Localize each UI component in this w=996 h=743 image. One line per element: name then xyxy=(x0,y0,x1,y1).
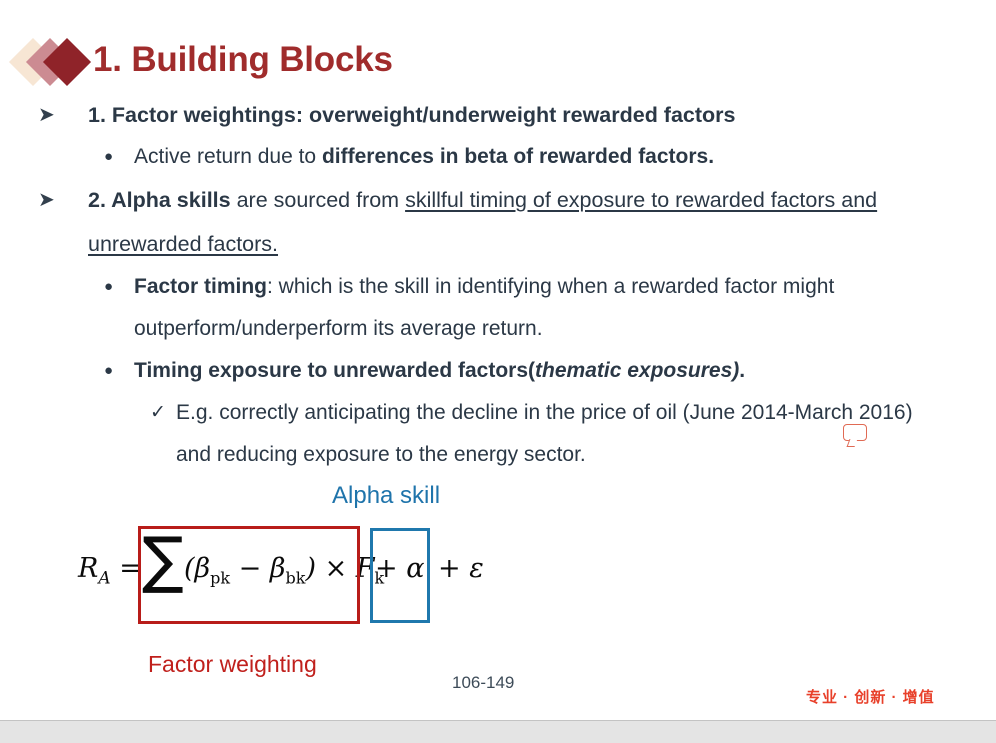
bullet-item-2-sub-1-lead: Factor timing xyxy=(134,275,267,298)
page-reference: 106-149 xyxy=(452,673,514,693)
dot-bullet-icon: ● xyxy=(104,266,113,308)
arrow-bullet-icon: ➤ xyxy=(38,94,55,136)
bullet-item-2-sub-2-tail: . xyxy=(739,359,745,382)
formula-epsilon-term: + ε xyxy=(438,553,484,584)
bullet-item-2-sub-2-lead: Timing exposure to unrewarded factors( xyxy=(134,359,535,382)
bullet-item-2-lead: 2. Alpha skills xyxy=(88,188,231,212)
brand-slogan: 专业 · 创新 · 增值 xyxy=(806,686,935,707)
slide-header: 1. Building Blocks xyxy=(0,18,996,84)
bullet-item-1-sub-lead: Active return due to xyxy=(134,145,322,168)
bullet-item-2-mid: are sourced from xyxy=(231,188,405,212)
bullet-item-2-sub-2: ● Timing exposure to unrewarded factors(… xyxy=(0,350,996,392)
factor-weighting-callout-label: Factor weighting xyxy=(148,651,317,678)
formula-lhs: RA = xyxy=(78,553,142,588)
bullet-item-2: ➤ 2. Alpha skills are sourced from skill… xyxy=(0,178,996,266)
comment-bubble-icon[interactable] xyxy=(843,424,869,444)
bullet-item-1-text: 1. Factor weightings: overweight/underwe… xyxy=(88,103,736,127)
alpha-skill-callout-label: Alpha skill xyxy=(332,482,440,510)
bullet-item-2-sub-1: ● Factor timing: which is the skill in i… xyxy=(0,266,996,350)
check-bullet-icon: ✓ xyxy=(150,392,166,434)
bottom-chrome-strip xyxy=(0,720,996,743)
bullet-item-1-sub: ● Active return due to differences in be… xyxy=(0,136,996,178)
formula-alpha-term: + α xyxy=(375,553,424,584)
summation-symbol: ∑ xyxy=(142,529,184,591)
slide-body: ➤ 1. Factor weightings: overweight/under… xyxy=(0,94,996,476)
example-text: E.g. correctly anticipating the decline … xyxy=(176,401,913,466)
slide-canvas: 1. Building Blocks ➤ 1. Factor weighting… xyxy=(0,0,996,720)
formula-beta-term: (βpk − βbk) × Fk xyxy=(184,553,384,587)
dot-bullet-icon: ● xyxy=(104,136,113,178)
page-title: 1. Building Blocks xyxy=(93,40,393,80)
bullet-item-1: ➤ 1. Factor weightings: overweight/under… xyxy=(0,94,996,136)
dot-bullet-icon: ● xyxy=(104,350,113,392)
bullet-item-1-sub-emphasis: differences in beta of rewarded factors. xyxy=(322,145,714,168)
bullet-item-2-sub-2-italic: thematic exposures) xyxy=(535,359,739,382)
arrow-bullet-icon: ➤ xyxy=(38,178,55,222)
diamond-logo-icon xyxy=(14,38,96,88)
